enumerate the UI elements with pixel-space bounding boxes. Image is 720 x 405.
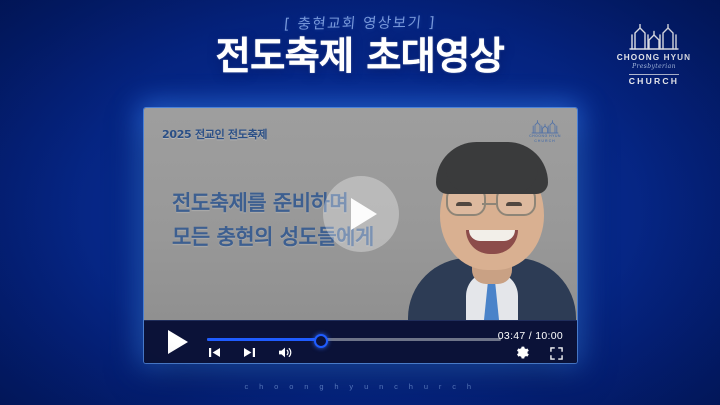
progress-scrubber[interactable] (207, 334, 501, 344)
video-player[interactable]: 2025 전교인 전도축제 (144, 108, 577, 363)
progress-fill (207, 338, 319, 341)
footer-text: c h o o n g h y u n c h u r c h (0, 382, 720, 391)
church-spires-icon (626, 24, 682, 50)
video-caption-line-2: 모든 충현의 성도들에게 (172, 220, 462, 254)
play-icon (351, 198, 377, 230)
play-overlay-button[interactable] (323, 176, 399, 252)
page-stage: [ 충현교회 영상보기 ] 전도축제 초대영상 CHOONG HYUN P (0, 0, 720, 405)
video-caption-line-1: 전도축제를 준비하며 (172, 186, 462, 220)
next-track-icon[interactable] (243, 346, 256, 359)
time-display: 03:47 / 10:00 (498, 330, 563, 342)
fullscreen-icon[interactable] (550, 347, 563, 360)
video-title-overlay: 2025 전교인 전도축제 (162, 126, 267, 142)
gear-icon[interactable] (516, 346, 530, 360)
brand-sub: CHURCH (629, 74, 679, 87)
progress-knob[interactable] (314, 334, 328, 348)
portrait-glasses-bridge (482, 203, 496, 206)
brand-logo: CHOONG HYUN Presbyterian CHURCH (610, 24, 698, 89)
previous-track-icon[interactable] (208, 346, 221, 359)
portrait-teeth (469, 230, 515, 241)
player-right-controls (516, 346, 563, 360)
play-button[interactable] (168, 330, 188, 354)
brand-name: CHOONG HYUN (610, 53, 698, 63)
transport-controls (208, 346, 293, 359)
volume-icon[interactable] (278, 346, 293, 359)
video-viewport[interactable]: 2025 전교인 전도축제 (144, 108, 577, 320)
video-caption: 전도축제를 준비하며 모든 충현의 성도들에게 (172, 186, 462, 254)
player-controls: 03:47 / 10:00 (144, 320, 577, 363)
brand-script: Presbyterian (610, 63, 698, 71)
